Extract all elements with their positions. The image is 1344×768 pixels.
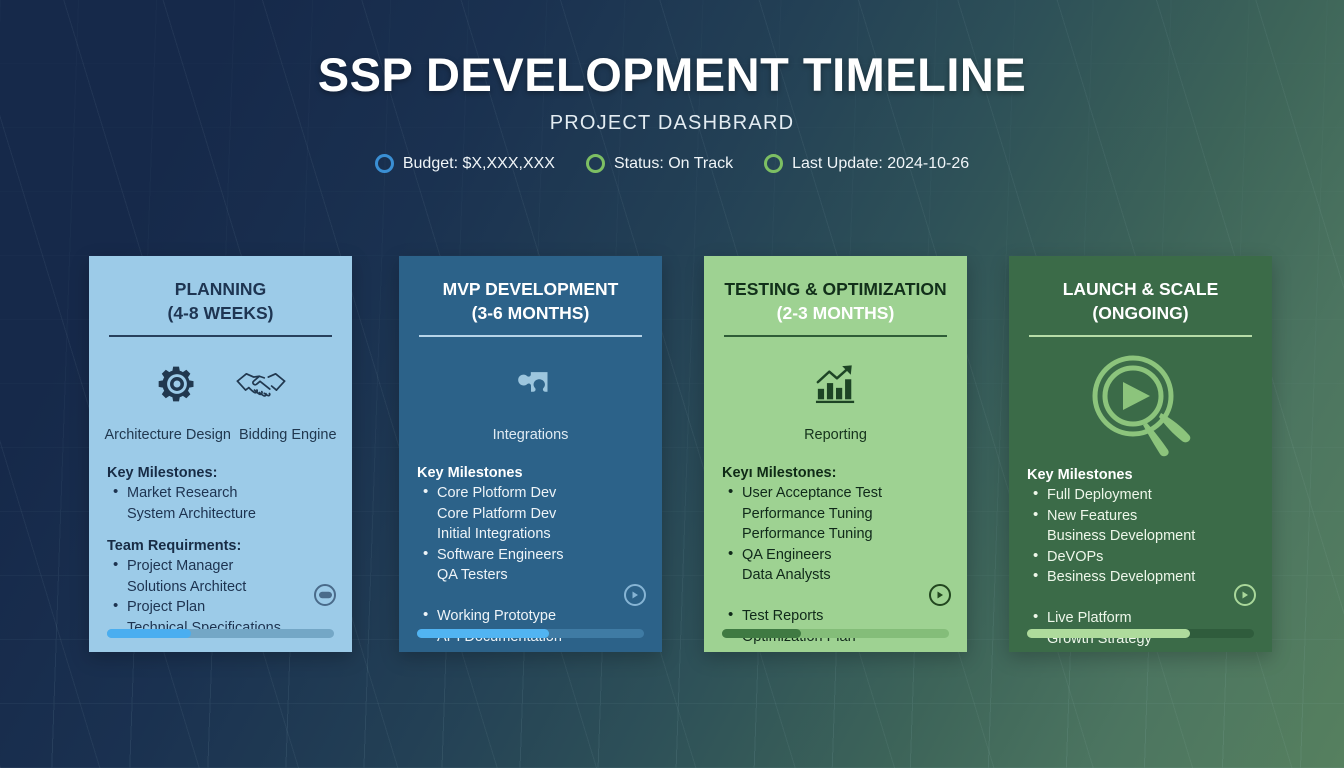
card-icon-row xyxy=(417,359,644,411)
list-item: QA Engineers xyxy=(728,545,949,566)
card-title-line1: TESTING & OPTIMIZATION xyxy=(722,278,949,302)
card-icon-row xyxy=(1027,351,1254,461)
card-divider xyxy=(1029,335,1252,337)
section-heading: Keyı Milestones: xyxy=(722,465,949,481)
section-heading: Key Milestones xyxy=(1027,467,1254,483)
card-title-line2: (2-3 MONTHS) xyxy=(722,302,949,326)
page-header: SSP DEVELOPMENT TIMELINE PROJECT DASHBRA… xyxy=(0,0,1344,173)
bar-chart-growth-icon xyxy=(813,364,859,411)
timeline-card-testing-optimization[interactable]: TESTING & OPTIMIZATION (2-3 MONTHS) Repo… xyxy=(704,256,967,652)
card-icon-captions: Integrations xyxy=(417,427,644,443)
list-item-spacer xyxy=(423,586,644,607)
status-budget-label: Budget: $X,XXX,XXX xyxy=(403,155,555,173)
milestone-list: Market Research System Architecture xyxy=(113,483,334,524)
team-list: Project Manager Solutions Architect Proj… xyxy=(113,556,334,638)
spacer xyxy=(107,524,334,538)
card-body: Key Milestones Core Plotform Dev Core Pl… xyxy=(417,465,644,647)
milestone-list: Full Deployment New Features Business De… xyxy=(1033,485,1254,649)
progress-bar-track[interactable] xyxy=(722,629,949,638)
list-item: DeVOPs xyxy=(1033,547,1254,568)
list-item: Business Development xyxy=(1033,526,1254,547)
status-track-label: Status: On Track xyxy=(614,155,733,173)
card-title-line1: PLANNING xyxy=(107,278,334,302)
handshake-icon xyxy=(235,366,287,411)
card-title-line2: (4-8 WEEKS) xyxy=(107,302,334,326)
progress-bar-fill xyxy=(107,629,191,638)
card-divider xyxy=(109,335,332,337)
card-title-line1: MVP DEVELOPMENT xyxy=(417,278,644,302)
card-title-line2: (3-6 MONTHS) xyxy=(417,302,644,326)
card-title: TESTING & OPTIMIZATION (2-3 MONTHS) xyxy=(722,278,949,325)
list-item: Working Prototype xyxy=(423,606,644,627)
timeline-card-launch-scale[interactable]: LAUNCH & SCALE (ONGOING) Key Milestones … xyxy=(1009,256,1272,652)
timeline-card-planning[interactable]: PLANNING (4-8 WEEKS) xyxy=(89,256,352,652)
list-item: Initial Integrations xyxy=(423,524,644,545)
card-icon-row xyxy=(722,359,949,411)
status-indicator-row: Budget: $X,XXX,XXX Status: On Track Last… xyxy=(0,154,1344,173)
progress-bar-track[interactable] xyxy=(1027,629,1254,638)
card-title-line2: (ONGOING) xyxy=(1027,302,1254,326)
play-badge-icon[interactable] xyxy=(1234,584,1256,606)
timeline-card-row: PLANNING (4-8 WEEKS) xyxy=(0,256,1344,652)
milestone-list: User Acceptance Test Performance Tuning … xyxy=(728,483,949,647)
timeline-card-mvp-development[interactable]: MVP DEVELOPMENT (3-6 MONTHS) Integration… xyxy=(399,256,662,652)
list-item: Test Reports xyxy=(728,606,949,627)
ring-indicator-green-icon xyxy=(586,154,605,173)
list-item: Project Manager xyxy=(113,556,334,577)
status-last-update: Last Update: 2024-10-26 xyxy=(764,154,969,173)
card-title: PLANNING (4-8 WEEKS) xyxy=(107,278,334,325)
progress-bar-fill xyxy=(417,629,549,638)
list-item: New Features xyxy=(1033,506,1254,527)
play-badge-icon[interactable] xyxy=(624,584,646,606)
rocket-launch-play-icon xyxy=(1077,351,1205,464)
icon-caption: Bidding Engine xyxy=(239,427,337,443)
list-item: Core Platform Dev xyxy=(423,504,644,525)
card-body: Key Milestones: Market Research System A… xyxy=(107,465,334,638)
progress-bar-track[interactable] xyxy=(417,629,644,638)
card-divider xyxy=(419,335,642,337)
gear-icon xyxy=(155,362,199,411)
puzzle-piece-icon xyxy=(509,362,553,411)
icon-caption: Reporting xyxy=(804,427,867,443)
milestone-list: Core Plotform Dev Core Platform Dev Init… xyxy=(423,483,644,647)
list-item: Solutions Architect xyxy=(113,577,334,598)
list-item: Full Deployment xyxy=(1033,485,1254,506)
status-budget: Budget: $X,XXX,XXX xyxy=(375,154,555,173)
progress-bar-fill xyxy=(1027,629,1190,638)
list-item: Live Platform xyxy=(1033,608,1254,629)
section-heading: Key Milestones: xyxy=(107,465,334,481)
list-item-spacer xyxy=(728,586,949,607)
list-item: Performance Tuning xyxy=(728,504,949,525)
card-body: Key Milestones Full Deployment New Featu… xyxy=(1027,467,1254,649)
list-item: QA Testers xyxy=(423,565,644,586)
ring-indicator-blue-icon xyxy=(375,154,394,173)
list-item: Project Plan xyxy=(113,597,334,618)
card-icon-row xyxy=(107,359,334,411)
list-item: Market Research xyxy=(113,483,334,504)
list-item: Core Plotform Dev xyxy=(423,483,644,504)
capsule-badge-icon[interactable] xyxy=(314,584,336,606)
list-item: Data Analysts xyxy=(728,565,949,586)
section-heading: Team Requirments: xyxy=(107,538,334,554)
ring-indicator-green-icon xyxy=(764,154,783,173)
status-last-update-label: Last Update: 2024-10-26 xyxy=(792,155,969,173)
list-item-spacer xyxy=(1033,588,1254,609)
list-item: Besiness Development xyxy=(1033,567,1254,588)
card-title: LAUNCH & SCALE (ONGOING) xyxy=(1027,278,1254,325)
card-icon-captions: Reporting xyxy=(722,427,949,443)
progress-bar-track[interactable] xyxy=(107,629,334,638)
status-track: Status: On Track xyxy=(586,154,733,173)
card-icon-captions: Architecture Design Bidding Engine xyxy=(107,427,334,443)
list-item: Performance Tuning xyxy=(728,524,949,545)
progress-bar-fill xyxy=(722,629,801,638)
icon-caption: Architecture Design xyxy=(104,427,231,443)
card-title-line1: LAUNCH & SCALE xyxy=(1027,278,1254,302)
icon-caption: Integrations xyxy=(493,427,569,443)
play-badge-icon[interactable] xyxy=(929,584,951,606)
card-divider xyxy=(724,335,947,337)
list-item: Software Engineers xyxy=(423,545,644,566)
page-subtitle: PROJECT DASHBRARD xyxy=(0,112,1344,135)
list-item: System Architecture xyxy=(113,504,334,525)
section-heading: Key Milestones xyxy=(417,465,644,481)
card-body: Keyı Milestones: User Acceptance Test Pe… xyxy=(722,465,949,647)
page-title: SSP DEVELOPMENT TIMELINE xyxy=(0,50,1344,99)
list-item: User Acceptance Test xyxy=(728,483,949,504)
card-title: MVP DEVELOPMENT (3-6 MONTHS) xyxy=(417,278,644,325)
